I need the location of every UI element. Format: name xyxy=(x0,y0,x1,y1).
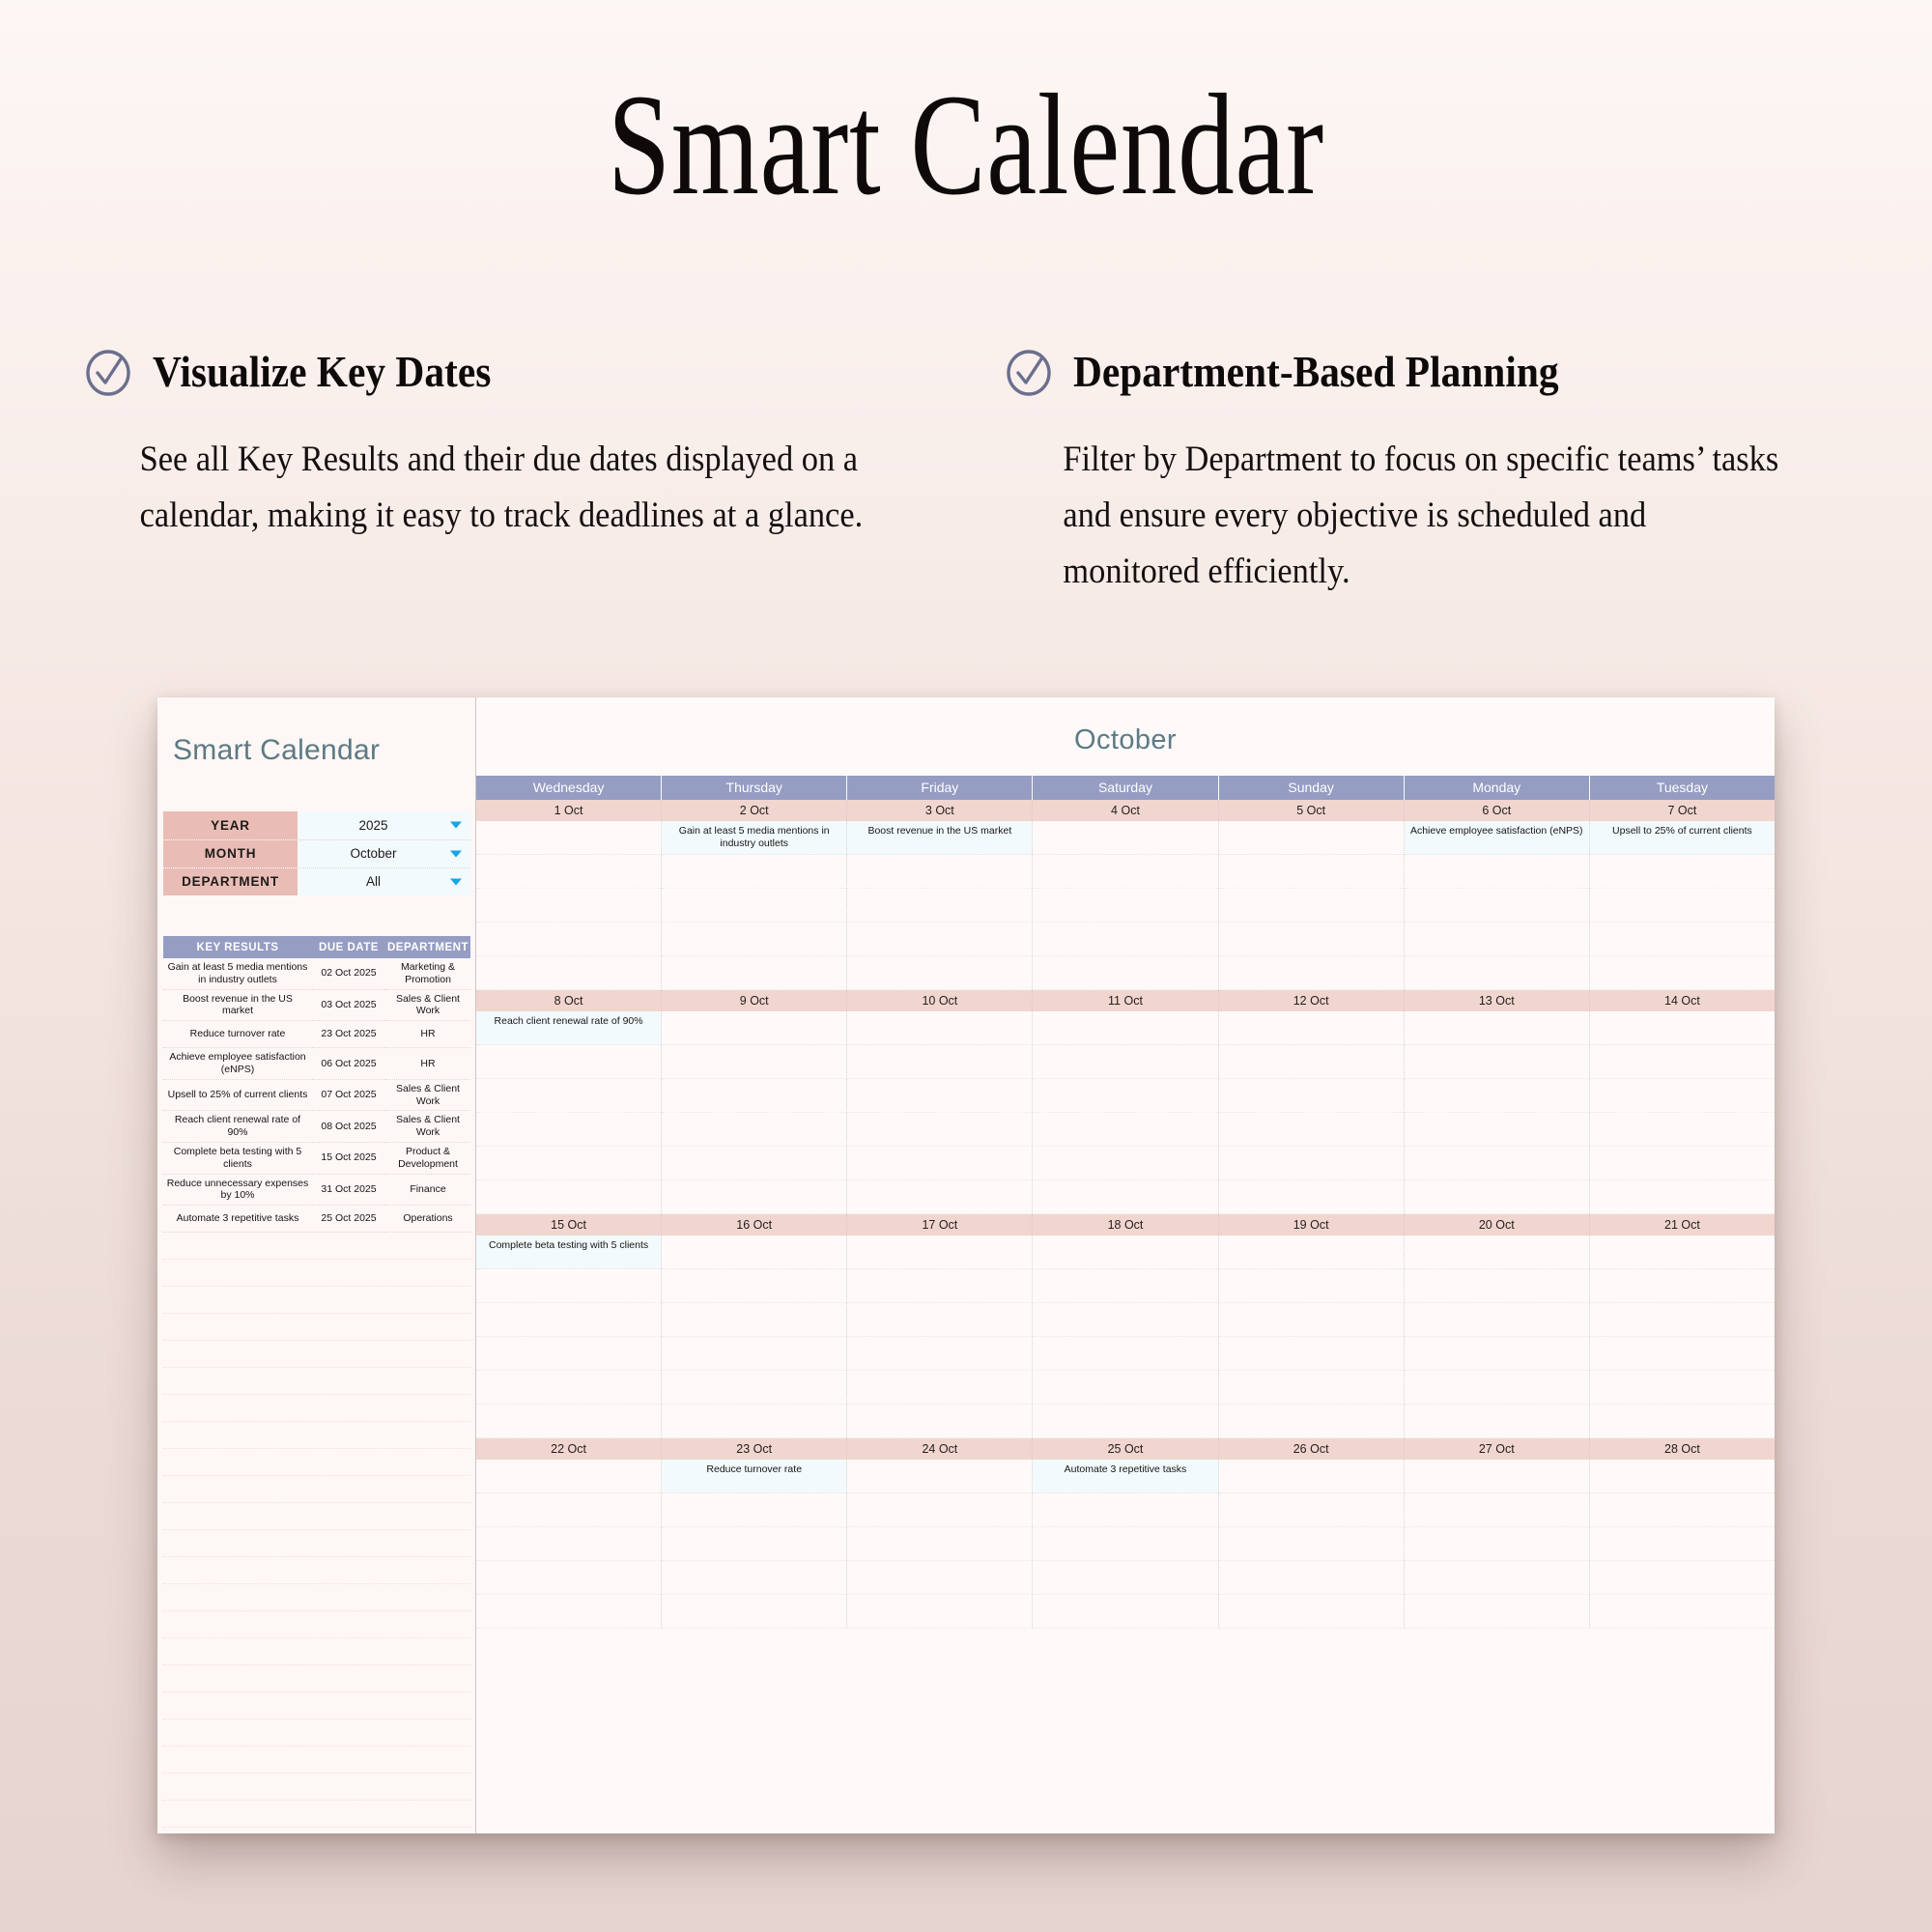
calendar-empty-cell[interactable] xyxy=(1590,1079,1775,1113)
calendar-empty-cell[interactable] xyxy=(476,889,662,923)
sidebar-empty-row[interactable] xyxy=(163,1774,470,1801)
calendar-empty-cell[interactable] xyxy=(1219,923,1405,956)
calendar-empty-cell[interactable] xyxy=(1405,1079,1590,1113)
calendar-empty-cell[interactable] xyxy=(1033,1337,1218,1371)
calendar-date-cell[interactable]: 7 Oct xyxy=(1590,800,1775,821)
filter-label: DEPARTMENT xyxy=(163,867,298,895)
calendar-empty-cell[interactable] xyxy=(1590,1371,1775,1405)
calendar-empty-cell[interactable] xyxy=(1219,1269,1405,1303)
sidebar-empty-row[interactable] xyxy=(163,1449,470,1476)
calendar-empty-cell[interactable] xyxy=(476,1303,662,1337)
filter-dropdown[interactable]: 2025 xyxy=(298,811,470,839)
sidebar-empty-row[interactable] xyxy=(163,1503,470,1530)
calendar-empty-cell[interactable] xyxy=(1033,889,1218,923)
check-circle-icon xyxy=(83,348,133,403)
calendar-empty-cell[interactable] xyxy=(1033,1011,1218,1045)
calendar-empty-cell[interactable] xyxy=(1590,1147,1775,1180)
calendar-empty-cell[interactable] xyxy=(662,1045,847,1079)
table-cell[interactable]: 02 Oct 2025 xyxy=(312,958,385,989)
calendar-empty-cell[interactable] xyxy=(1590,855,1775,889)
calendar-blank-row xyxy=(476,1303,1775,1337)
feature-header: Department-Based Planning xyxy=(1004,346,1849,403)
features-section: Visualize Key Dates See all Key Results … xyxy=(0,222,1932,601)
calendar-event[interactable]: Boost revenue in the US market xyxy=(847,821,1033,855)
sidebar-empty-row[interactable] xyxy=(163,1260,470,1287)
calendar-date-cell[interactable]: 9 Oct xyxy=(662,990,847,1011)
sidebar-empty-row[interactable] xyxy=(163,1368,470,1395)
calendar-empty-cell[interactable] xyxy=(662,1079,847,1113)
calendar-empty-cell[interactable] xyxy=(662,1236,847,1269)
calendar-empty-cell[interactable] xyxy=(1405,855,1590,889)
calendar-empty-cell[interactable] xyxy=(662,1113,847,1147)
calendar-empty-cell[interactable] xyxy=(1219,1079,1405,1113)
calendar-date-cell[interactable]: 11 Oct xyxy=(1033,990,1218,1011)
calendar-empty-cell[interactable] xyxy=(476,1561,662,1595)
calendar-empty-cell[interactable] xyxy=(476,1371,662,1405)
table-cell[interactable]: HR xyxy=(385,1048,470,1080)
calendar-empty-cell[interactable] xyxy=(476,956,662,990)
calendar-empty-cell[interactable] xyxy=(1219,1595,1405,1629)
calendar-empty-cell[interactable] xyxy=(1590,1527,1775,1561)
sidebar-empty-row[interactable] xyxy=(163,1341,470,1368)
calendar-empty-cell[interactable] xyxy=(1033,1147,1218,1180)
calendar-empty-cell[interactable] xyxy=(1219,1303,1405,1337)
calendar-empty-cell[interactable] xyxy=(1033,1527,1218,1561)
calendar-empty-cell[interactable] xyxy=(847,1337,1033,1371)
sidebar-empty-row[interactable] xyxy=(163,1287,470,1314)
calendar-empty-cell[interactable] xyxy=(1405,1303,1590,1337)
sidebar-empty-row[interactable] xyxy=(163,1557,470,1584)
calendar-blank-row xyxy=(476,1337,1775,1371)
sidebar-empty-rows xyxy=(163,1233,470,1833)
calendar-empty-cell[interactable] xyxy=(1590,923,1775,956)
sidebar-panel: Smart Calendar YEAR2025MONTHOctoberDEPAR… xyxy=(157,697,476,1833)
table-cell[interactable]: HR xyxy=(385,1021,470,1048)
table-cell[interactable]: Reach client renewal rate of 90% xyxy=(163,1111,312,1143)
feature-visualize-key-dates: Visualize Key Dates See all Key Results … xyxy=(83,346,928,601)
calendar-empty-cell[interactable] xyxy=(1219,1405,1405,1438)
calendar-empty-cell[interactable] xyxy=(1405,1527,1590,1561)
calendar-empty-cell[interactable] xyxy=(1033,1079,1218,1113)
table-cell[interactable]: Complete beta testing with 5 clients xyxy=(163,1142,312,1174)
calendar-date-cell[interactable]: 21 Oct xyxy=(1590,1214,1775,1236)
key-results-table: KEY RESULTSDUE DATEDEPARTMENT Gain at le… xyxy=(163,936,470,1233)
table-cell[interactable]: Upsell to 25% of current clients xyxy=(163,1079,312,1111)
calendar-blank-row xyxy=(476,1405,1775,1438)
table-cell[interactable]: 08 Oct 2025 xyxy=(312,1111,385,1143)
calendar-empty-cell[interactable] xyxy=(476,1527,662,1561)
calendar-date-cell[interactable]: 1 Oct xyxy=(476,800,662,821)
calendar-empty-cell[interactable] xyxy=(1590,1405,1775,1438)
calendar-empty-cell[interactable] xyxy=(1219,1045,1405,1079)
calendar-event[interactable]: Automate 3 repetitive tasks xyxy=(1033,1460,1218,1493)
calendar-empty-cell[interactable] xyxy=(1405,1113,1590,1147)
calendar-date-cell[interactable]: 28 Oct xyxy=(1590,1438,1775,1460)
filter-value: All xyxy=(366,874,381,889)
table-row[interactable]: Reduce unnecessary expenses by 10%31 Oct… xyxy=(163,1174,470,1206)
calendar-empty-cell[interactable] xyxy=(1590,1595,1775,1629)
calendar-day-name: Monday xyxy=(1405,776,1590,800)
table-cell[interactable]: 25 Oct 2025 xyxy=(312,1206,385,1233)
calendar-empty-cell[interactable] xyxy=(1590,1460,1775,1493)
calendar-empty-cell[interactable] xyxy=(847,855,1033,889)
calendar-empty-cell[interactable] xyxy=(1405,1405,1590,1438)
calendar-empty-cell[interactable] xyxy=(1405,1371,1590,1405)
table-cell[interactable]: Boost revenue in the US market xyxy=(163,989,312,1021)
sidebar-empty-row[interactable] xyxy=(163,1314,470,1341)
calendar-empty-cell[interactable] xyxy=(662,1405,847,1438)
calendar-empty-cell[interactable] xyxy=(662,1303,847,1337)
calendar-empty-cell[interactable] xyxy=(847,1493,1033,1527)
calendar-empty-cell[interactable] xyxy=(847,1011,1033,1045)
calendar-empty-cell[interactable] xyxy=(1219,1147,1405,1180)
calendar-blank-row xyxy=(476,1147,1775,1180)
calendar-date-cell[interactable]: 24 Oct xyxy=(847,1438,1033,1460)
calendar-empty-cell[interactable] xyxy=(1405,1561,1590,1595)
calendar-empty-cell[interactable] xyxy=(1590,1113,1775,1147)
table-row[interactable]: Gain at least 5 media mentions in indust… xyxy=(163,958,470,989)
calendar-empty-cell[interactable] xyxy=(1219,1236,1405,1269)
calendar-empty-cell[interactable] xyxy=(1405,1236,1590,1269)
calendar-day-name: Tuesday xyxy=(1590,776,1775,800)
calendar-empty-cell[interactable] xyxy=(1405,1460,1590,1493)
table-cell[interactable]: Reduce turnover rate xyxy=(163,1021,312,1048)
calendar-empty-cell[interactable] xyxy=(476,1595,662,1629)
calendar-empty-cell[interactable] xyxy=(1590,1493,1775,1527)
calendar-date-cell[interactable]: 19 Oct xyxy=(1219,1214,1405,1236)
calendar-empty-cell[interactable] xyxy=(1219,1011,1405,1045)
calendar-date-cell[interactable]: 27 Oct xyxy=(1405,1438,1590,1460)
sidebar-empty-row[interactable] xyxy=(163,1476,470,1503)
calendar-empty-cell[interactable] xyxy=(1033,1045,1218,1079)
filter-row: DEPARTMENTAll xyxy=(163,867,470,895)
calendar-empty-cell[interactable] xyxy=(1033,1303,1218,1337)
calendar-empty-cell[interactable] xyxy=(847,1405,1033,1438)
table-cell[interactable]: Marketing & Promotion xyxy=(385,958,470,989)
calendar-blank-row xyxy=(476,923,1775,956)
table-row[interactable]: Reduce turnover rate23 Oct 2025HR xyxy=(163,1021,470,1048)
calendar-event-row: Gain at least 5 media mentions in indust… xyxy=(476,821,1775,855)
feature-header: Visualize Key Dates xyxy=(83,346,928,403)
table-cell[interactable]: Operations xyxy=(385,1206,470,1233)
sidebar-empty-row[interactable] xyxy=(163,1692,470,1719)
sidebar-empty-row[interactable] xyxy=(163,1828,470,1833)
calendar-date-cell[interactable]: 3 Oct xyxy=(847,800,1033,821)
calendar-empty-cell[interactable] xyxy=(1405,1045,1590,1079)
calendar-empty-cell[interactable] xyxy=(1033,1371,1218,1405)
calendar-empty-cell[interactable] xyxy=(1405,1493,1590,1527)
calendar-date-row: 15 Oct16 Oct17 Oct18 Oct19 Oct20 Oct21 O… xyxy=(476,1214,1775,1236)
calendar-empty-cell[interactable] xyxy=(847,1371,1033,1405)
calendar-empty-cell[interactable] xyxy=(1033,1493,1218,1527)
sidebar-empty-row[interactable] xyxy=(163,1665,470,1692)
calendar-empty-cell[interactable] xyxy=(1405,1269,1590,1303)
calendar-empty-cell[interactable] xyxy=(476,1113,662,1147)
calendar-empty-cell[interactable] xyxy=(1219,889,1405,923)
table-cell[interactable]: 15 Oct 2025 xyxy=(312,1142,385,1174)
table-cell[interactable]: Achieve employee satisfaction (eNPS) xyxy=(163,1048,312,1080)
calendar-empty-cell[interactable] xyxy=(476,1405,662,1438)
calendar-empty-cell[interactable] xyxy=(847,1045,1033,1079)
table-cell[interactable]: 31 Oct 2025 xyxy=(312,1174,385,1206)
calendar-date-cell[interactable]: 16 Oct xyxy=(662,1214,847,1236)
table-row[interactable]: Automate 3 repetitive tasks25 Oct 2025Op… xyxy=(163,1206,470,1233)
calendar-event[interactable]: Upsell to 25% of current clients xyxy=(1590,821,1775,855)
calendar-empty-cell[interactable] xyxy=(1033,1180,1218,1214)
calendar-empty-cell[interactable] xyxy=(1590,1561,1775,1595)
calendar-empty-cell[interactable] xyxy=(476,923,662,956)
sidebar-empty-row[interactable] xyxy=(163,1422,470,1449)
calendar-empty-cell[interactable] xyxy=(662,923,847,956)
calendar-blank-row xyxy=(476,855,1775,889)
calendar-empty-cell[interactable] xyxy=(1590,889,1775,923)
calendar-date-cell[interactable]: 25 Oct xyxy=(1033,1438,1218,1460)
calendar-empty-cell[interactable] xyxy=(662,1011,847,1045)
calendar-event[interactable]: Gain at least 5 media mentions in indust… xyxy=(662,821,847,855)
calendar-empty-cell[interactable] xyxy=(1033,1561,1218,1595)
calendar-empty-cell[interactable] xyxy=(1033,1595,1218,1629)
calendar-empty-cell[interactable] xyxy=(847,1460,1033,1493)
calendar-empty-cell[interactable] xyxy=(662,956,847,990)
filter-label: YEAR xyxy=(163,811,298,839)
calendar-event-row: Reduce turnover rateAutomate 3 repetitiv… xyxy=(476,1460,1775,1493)
table-row[interactable]: Upsell to 25% of current clients07 Oct 2… xyxy=(163,1079,470,1111)
sidebar-empty-row[interactable] xyxy=(163,1395,470,1422)
calendar-date-cell[interactable]: 17 Oct xyxy=(847,1214,1033,1236)
calendar-empty-cell[interactable] xyxy=(1590,956,1775,990)
calendar-blank-row xyxy=(476,889,1775,923)
table-cell[interactable]: Sales & Client Work xyxy=(385,989,470,1021)
table-cell[interactable]: Gain at least 5 media mentions in indust… xyxy=(163,958,312,989)
calendar-empty-cell[interactable] xyxy=(1219,855,1405,889)
calendar-empty-cell[interactable] xyxy=(662,1371,847,1405)
calendar-empty-cell[interactable] xyxy=(1219,1527,1405,1561)
table-cell[interactable]: 03 Oct 2025 xyxy=(312,989,385,1021)
calendar-empty-cell[interactable] xyxy=(1219,1371,1405,1405)
calendar-date-row: 8 Oct9 Oct10 Oct11 Oct12 Oct13 Oct14 Oct xyxy=(476,990,1775,1011)
sidebar-empty-row[interactable] xyxy=(163,1719,470,1747)
calendar-empty-cell[interactable] xyxy=(847,1180,1033,1214)
table-row[interactable]: Boost revenue in the US market03 Oct 202… xyxy=(163,989,470,1021)
calendar-empty-cell[interactable] xyxy=(1219,1113,1405,1147)
calendar-empty-cell[interactable] xyxy=(1219,1180,1405,1214)
calendar-empty-cell[interactable] xyxy=(1590,1011,1775,1045)
calendar-empty-cell[interactable] xyxy=(1219,1460,1405,1493)
calendar-event[interactable]: Reach client renewal rate of 90% xyxy=(476,1011,662,1045)
key-results-column-header: DEPARTMENT xyxy=(385,936,470,958)
calendar-empty-cell[interactable] xyxy=(662,855,847,889)
calendar-day-name: Sunday xyxy=(1219,776,1405,800)
calendar-blank-row xyxy=(476,1045,1775,1079)
calendar-empty-cell[interactable] xyxy=(1219,1337,1405,1371)
filter-dropdown[interactable]: October xyxy=(298,839,470,867)
filter-label: MONTH xyxy=(163,839,298,867)
calendar-date-cell[interactable]: 10 Oct xyxy=(847,990,1033,1011)
calendar-empty-cell[interactable] xyxy=(1405,1147,1590,1180)
calendar-empty-cell[interactable] xyxy=(1405,956,1590,990)
table-cell[interactable]: 23 Oct 2025 xyxy=(312,1021,385,1048)
chevron-down-icon[interactable] xyxy=(450,878,462,885)
calendar-empty-cell[interactable] xyxy=(476,821,662,855)
calendar-date-cell[interactable]: 14 Oct xyxy=(1590,990,1775,1011)
chevron-down-icon[interactable] xyxy=(450,822,462,829)
calendar-empty-cell[interactable] xyxy=(662,1595,847,1629)
calendar-blank-row xyxy=(476,1079,1775,1113)
calendar-blank-row xyxy=(476,956,1775,990)
calendar-empty-cell[interactable] xyxy=(1590,1269,1775,1303)
calendar-date-cell[interactable]: 18 Oct xyxy=(1033,1214,1218,1236)
calendar-empty-cell[interactable] xyxy=(847,1303,1033,1337)
calendar-empty-cell[interactable] xyxy=(1033,1236,1218,1269)
calendar-date-cell[interactable]: 6 Oct xyxy=(1405,800,1590,821)
calendar-empty-cell[interactable] xyxy=(1405,889,1590,923)
calendar-empty-cell[interactable] xyxy=(662,1493,847,1527)
calendar-day-name: Saturday xyxy=(1033,776,1218,800)
calendar-empty-cell[interactable] xyxy=(1405,923,1590,956)
calendar-day-name: Friday xyxy=(847,776,1033,800)
calendar-empty-cell[interactable] xyxy=(662,1561,847,1595)
calendar-event-row: Reach client renewal rate of 90% xyxy=(476,1011,1775,1045)
calendar-empty-cell[interactable] xyxy=(662,1337,847,1371)
sidebar-empty-row[interactable] xyxy=(163,1747,470,1774)
feature-description: See all Key Results and their due dates … xyxy=(83,432,869,545)
calendar-empty-cell[interactable] xyxy=(1405,1337,1590,1371)
calendar-empty-cell[interactable] xyxy=(1033,855,1218,889)
calendar-blank-row xyxy=(476,1113,1775,1147)
table-cell[interactable]: 07 Oct 2025 xyxy=(312,1079,385,1111)
calendar-date-cell[interactable]: 2 Oct xyxy=(662,800,847,821)
calendar-day-name: Thursday xyxy=(662,776,847,800)
calendar-date-cell[interactable]: 23 Oct xyxy=(662,1438,847,1460)
calendar-empty-cell[interactable] xyxy=(1590,1337,1775,1371)
table-row[interactable]: Complete beta testing with 5 clients15 O… xyxy=(163,1142,470,1174)
calendar-empty-cell[interactable] xyxy=(847,1269,1033,1303)
calendar-empty-cell[interactable] xyxy=(847,923,1033,956)
sidebar-empty-row[interactable] xyxy=(163,1233,470,1260)
calendar-empty-cell[interactable] xyxy=(847,889,1033,923)
table-cell[interactable]: Reduce unnecessary expenses by 10% xyxy=(163,1174,312,1206)
sidebar-empty-row[interactable] xyxy=(163,1611,470,1638)
calendar-empty-cell[interactable] xyxy=(1219,1493,1405,1527)
calendar-empty-cell[interactable] xyxy=(662,889,847,923)
calendar-date-cell[interactable]: 15 Oct xyxy=(476,1214,662,1236)
chevron-down-icon[interactable] xyxy=(450,850,462,857)
filter-row: MONTHOctober xyxy=(163,839,470,867)
calendar-event[interactable]: Reduce turnover rate xyxy=(662,1460,847,1493)
calendar-event[interactable]: Complete beta testing with 5 clients xyxy=(476,1236,662,1269)
calendar-empty-cell[interactable] xyxy=(847,1113,1033,1147)
calendar-day-name: Wednesday xyxy=(476,776,662,800)
calendar-date-row: 1 Oct2 Oct3 Oct4 Oct5 Oct6 Oct7 Oct xyxy=(476,800,1775,821)
calendar-date-cell[interactable]: 20 Oct xyxy=(1405,1214,1590,1236)
calendar-empty-cell[interactable] xyxy=(476,1493,662,1527)
table-cell[interactable]: Sales & Client Work xyxy=(385,1079,470,1111)
calendar-empty-cell[interactable] xyxy=(847,1527,1033,1561)
table-cell[interactable]: Sales & Client Work xyxy=(385,1111,470,1143)
calendar-empty-cell[interactable] xyxy=(1219,956,1405,990)
calendar-empty-cell[interactable] xyxy=(1033,1405,1218,1438)
calendar-empty-cell[interactable] xyxy=(1590,1180,1775,1214)
sidebar-empty-row[interactable] xyxy=(163,1530,470,1557)
filter-row: YEAR2025 xyxy=(163,811,470,839)
calendar-empty-cell[interactable] xyxy=(1590,1303,1775,1337)
calendar-date-cell[interactable]: 13 Oct xyxy=(1405,990,1590,1011)
calendar-empty-cell[interactable] xyxy=(1405,1595,1590,1629)
calendar-date-cell[interactable]: 12 Oct xyxy=(1219,990,1405,1011)
calendar-empty-cell[interactable] xyxy=(847,1561,1033,1595)
calendar-empty-cell[interactable] xyxy=(1033,1269,1218,1303)
table-row[interactable]: Achieve employee satisfaction (eNPS)06 O… xyxy=(163,1048,470,1080)
table-cell[interactable]: Automate 3 repetitive tasks xyxy=(163,1206,312,1233)
app-brand-title: Smart Calendar xyxy=(157,697,475,767)
calendar-empty-cell[interactable] xyxy=(847,1236,1033,1269)
page-title: Smart Calendar xyxy=(213,0,1719,222)
filters-table: YEAR2025MONTHOctoberDEPARTMENTAll xyxy=(163,811,470,895)
calendar-empty-cell[interactable] xyxy=(476,1045,662,1079)
calendar-panel: October WednesdayThursdayFridaySaturdayS… xyxy=(476,697,1775,1833)
calendar-empty-cell[interactable] xyxy=(476,855,662,889)
calendar-empty-cell[interactable] xyxy=(476,1079,662,1113)
calendar-empty-cell[interactable] xyxy=(662,1180,847,1214)
calendar-blank-row xyxy=(476,1180,1775,1214)
calendar-empty-cell[interactable] xyxy=(847,1595,1033,1629)
calendar-empty-cell[interactable] xyxy=(476,1147,662,1180)
calendar-empty-cell[interactable] xyxy=(662,1527,847,1561)
sidebar-empty-row[interactable] xyxy=(163,1801,470,1828)
calendar-empty-cell[interactable] xyxy=(1219,1561,1405,1595)
calendar-blank-row xyxy=(476,1493,1775,1527)
calendar-date-cell[interactable]: 22 Oct xyxy=(476,1438,662,1460)
calendar-empty-cell[interactable] xyxy=(662,1147,847,1180)
calendar-date-cell[interactable]: 26 Oct xyxy=(1219,1438,1405,1460)
calendar-empty-cell[interactable] xyxy=(476,1337,662,1371)
calendar-empty-cell[interactable] xyxy=(476,1180,662,1214)
filter-value: 2025 xyxy=(358,818,387,833)
key-results-table-wrap: KEY RESULTSDUE DATEDEPARTMENT Gain at le… xyxy=(163,936,470,1233)
calendar-event[interactable]: Achieve employee satisfaction (eNPS) xyxy=(1405,821,1590,855)
key-results-column-header: DUE DATE xyxy=(312,936,385,958)
calendar-empty-cell[interactable] xyxy=(1033,923,1218,956)
calendar-empty-cell[interactable] xyxy=(847,1147,1033,1180)
table-cell[interactable]: Product & Development xyxy=(385,1142,470,1174)
feature-description: Filter by Department to focus on specifi… xyxy=(1004,432,1790,601)
sidebar-empty-row[interactable] xyxy=(163,1638,470,1665)
calendar-empty-cell[interactable] xyxy=(847,1079,1033,1113)
table-row[interactable]: Reach client renewal rate of 90%08 Oct 2… xyxy=(163,1111,470,1143)
calendar-empty-cell[interactable] xyxy=(476,1460,662,1493)
calendar-date-cell[interactable]: 5 Oct xyxy=(1219,800,1405,821)
calendar-empty-cell[interactable] xyxy=(662,1269,847,1303)
sidebar-empty-row[interactable] xyxy=(163,1584,470,1611)
calendar-blank-row xyxy=(476,1527,1775,1561)
calendar-empty-cell[interactable] xyxy=(1405,1180,1590,1214)
filter-dropdown[interactable]: All xyxy=(298,867,470,895)
table-cell[interactable]: Finance xyxy=(385,1174,470,1206)
check-circle-icon xyxy=(1004,348,1054,403)
calendar-date-cell[interactable]: 8 Oct xyxy=(476,990,662,1011)
calendar-empty-cell[interactable] xyxy=(1590,1045,1775,1079)
calendar-empty-cell[interactable] xyxy=(1405,1011,1590,1045)
calendar-empty-cell[interactable] xyxy=(476,1269,662,1303)
table-cell[interactable]: 06 Oct 2025 xyxy=(312,1048,385,1080)
calendar-empty-cell[interactable] xyxy=(1033,821,1218,855)
calendar-empty-cell[interactable] xyxy=(847,956,1033,990)
calendar-date-cell[interactable]: 4 Oct xyxy=(1033,800,1218,821)
calendar-empty-cell[interactable] xyxy=(1033,956,1218,990)
calendar-empty-cell[interactable] xyxy=(1033,1113,1218,1147)
calendar-empty-cell[interactable] xyxy=(1219,821,1405,855)
calendar-empty-cell[interactable] xyxy=(1590,1236,1775,1269)
